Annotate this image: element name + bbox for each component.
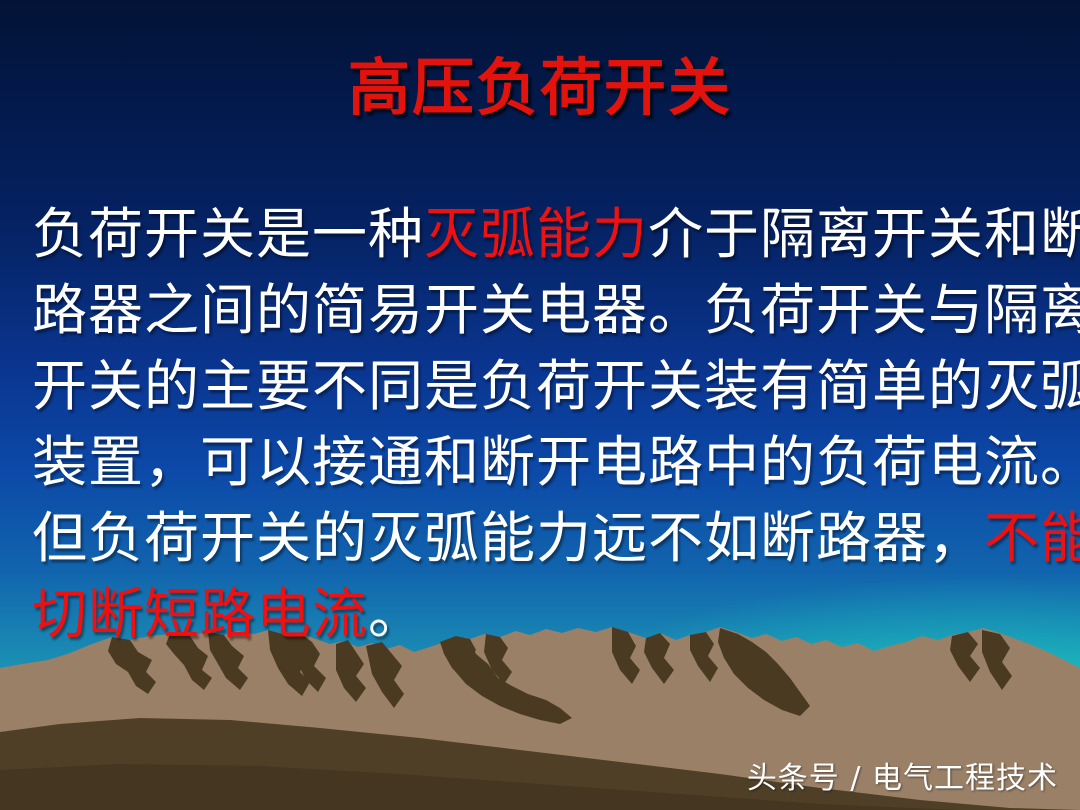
body-text-block: 负荷开关是一种灭弧能力介于隔离开关和断 路器之间的简易开关电器。负荷开关与隔离 … bbox=[32, 196, 1062, 652]
watermark-attribution: 头条号 / 电气工程技术 bbox=[747, 760, 1058, 798]
body-line-3-segment-a: 开关的主要不同是负荷开关装有简单的灭弧 bbox=[32, 354, 1080, 418]
page-title: 高压负荷开关 bbox=[0, 57, 1080, 119]
body-line-2-segment-a: 路器之间的简易开关电器。负荷开关与隔离 bbox=[32, 278, 1080, 342]
body-line-2: 路器之间的简易开关电器。负荷开关与隔离 bbox=[32, 272, 1062, 348]
body-line-5: 但负荷开关的灭弧能力远不如断路器，不能 bbox=[32, 500, 1062, 576]
body-line-4-segment-a: 装置，可以接通和断开电路中的负荷电流。 bbox=[32, 430, 1080, 494]
body-line-5-highlight: 不能 bbox=[984, 506, 1080, 570]
body-line-1: 负荷开关是一种灭弧能力介于隔离开关和断 bbox=[32, 196, 1062, 272]
body-line-6-highlight: 切断短路电流 bbox=[32, 582, 368, 646]
body-line-4: 装置，可以接通和断开电路中的负荷电流。 bbox=[32, 424, 1062, 500]
body-line-5-segment-a: 但负荷开关的灭弧能力远不如断路器， bbox=[32, 506, 984, 570]
body-line-6: 切断短路电流。 bbox=[32, 576, 1062, 652]
body-line-3: 开关的主要不同是负荷开关装有简单的灭弧 bbox=[32, 348, 1062, 424]
body-line-1-segment-b: 介于隔离开关和断 bbox=[648, 202, 1080, 266]
presentation-slide: 高压负荷开关 负荷开关是一种灭弧能力介于隔离开关和断 路器之间的简易开关电器。负… bbox=[0, 0, 1080, 810]
body-line-1-highlight: 灭弧能力 bbox=[424, 202, 648, 266]
body-line-1-segment-a: 负荷开关是一种 bbox=[32, 202, 424, 266]
body-line-6-segment-a: 。 bbox=[368, 582, 424, 646]
